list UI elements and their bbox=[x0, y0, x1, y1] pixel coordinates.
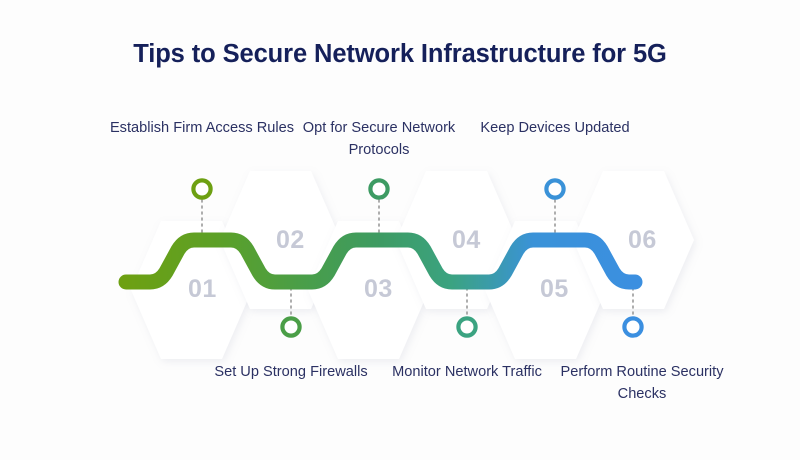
marker-circle-02[interactable] bbox=[282, 318, 299, 335]
step-label-04: Monitor Network Traffic bbox=[372, 361, 562, 383]
step-number-05: 05 bbox=[540, 275, 569, 304]
infographic-canvas: Tips to Secure Network Infrastructure fo… bbox=[0, 0, 800, 460]
step-label-02: Set Up Strong Firewalls bbox=[196, 361, 386, 383]
step-number-02: 02 bbox=[276, 226, 305, 255]
marker-circle-01[interactable] bbox=[193, 180, 210, 197]
marker-circle-03[interactable] bbox=[370, 180, 387, 197]
marker-circle-05[interactable] bbox=[546, 180, 563, 197]
step-number-01: 01 bbox=[188, 275, 217, 304]
step-label-06: Perform Routine Security Checks bbox=[547, 361, 737, 405]
marker-circle-06[interactable] bbox=[624, 318, 641, 335]
step-number-04: 04 bbox=[452, 226, 481, 255]
step-number-06: 06 bbox=[628, 226, 657, 255]
step-label-01: Establish Firm Access Rules bbox=[107, 117, 297, 139]
step-label-03: Opt for Secure Network Protocols bbox=[284, 117, 474, 161]
step-label-05: Keep Devices Updated bbox=[460, 117, 650, 139]
marker-circle-04[interactable] bbox=[458, 318, 475, 335]
step-number-03: 03 bbox=[364, 275, 393, 304]
